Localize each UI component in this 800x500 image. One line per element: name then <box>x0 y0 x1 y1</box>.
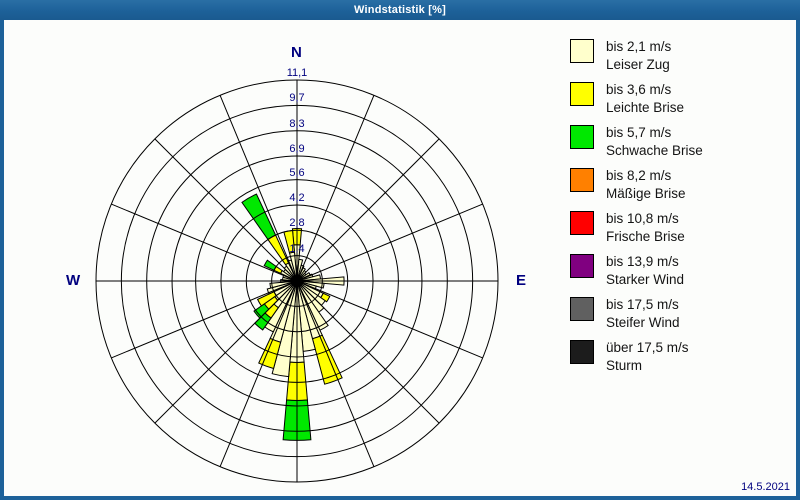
legend-label: bis 2,1 m/sLeiser Zug <box>606 38 671 74</box>
window-titlebar: Windstatistik [%] <box>0 0 800 20</box>
compass-label-north: N <box>291 44 302 61</box>
legend-item[interactable]: bis 8,2 m/sMäßige Brise <box>570 167 796 203</box>
radial-tick-label: 8,3 <box>283 118 311 130</box>
window-title: Windstatistik [%] <box>354 4 446 16</box>
radial-tick-label: 4,2 <box>283 192 311 204</box>
date-stamp: 14.5.2021 <box>741 481 790 493</box>
legend-speed: bis 5,7 m/s <box>606 124 703 142</box>
wind-rose-segment <box>312 335 342 384</box>
legend-label: bis 13,9 m/sStarker Wind <box>606 253 684 289</box>
grid-spoke <box>111 204 297 281</box>
legend-label: bis 3,6 m/sLeichte Brise <box>606 81 684 117</box>
radial-tick-label: 6,9 <box>283 143 311 155</box>
compass-label-east: E <box>516 272 526 289</box>
radial-tick-label: 9,7 <box>283 92 311 104</box>
legend-swatch <box>570 39 594 63</box>
legend-speed: bis 17,5 m/s <box>606 296 680 314</box>
legend-name: Steifer Wind <box>606 314 680 332</box>
legend-name: Sturm <box>606 357 689 375</box>
windstatistik-window: Windstatistik [%] N E S W 1,42,84,25,66,… <box>0 0 800 500</box>
grid-spoke <box>297 204 483 281</box>
legend-name: Starker Wind <box>606 271 684 289</box>
radial-tick-label: 1,4 <box>283 243 311 255</box>
wind-rose-chart: N E S W 1,42,84,25,66,98,39,711,1 <box>4 20 564 496</box>
legend-name: Mäßige Brise <box>606 185 686 203</box>
wind-rose-sectors <box>242 194 344 440</box>
legend-speed: bis 2,1 m/s <box>606 38 671 56</box>
legend-label: bis 5,7 m/sSchwache Brise <box>606 124 703 160</box>
legend-item[interactable]: bis 3,6 m/sLeichte Brise <box>570 81 796 117</box>
legend-item[interactable]: bis 13,9 m/sStarker Wind <box>570 253 796 289</box>
radial-tick-label: 2,8 <box>283 217 311 229</box>
legend-swatch <box>570 254 594 278</box>
radial-tick-label: 5,6 <box>283 167 311 179</box>
legend-item[interactable]: über 17,5 m/sSturm <box>570 339 796 375</box>
legend-label: bis 17,5 m/sSteifer Wind <box>606 296 680 332</box>
legend-swatch <box>570 82 594 106</box>
radial-tick-label: 11,1 <box>283 67 311 79</box>
legend-swatch <box>570 168 594 192</box>
legend-swatch <box>570 125 594 149</box>
legend-name: Schwache Brise <box>606 142 703 160</box>
window-client-area: N E S W 1,42,84,25,66,98,39,711,1 bis 2,… <box>4 20 796 496</box>
legend-label: bis 8,2 m/sMäßige Brise <box>606 167 686 203</box>
legend-swatch <box>570 297 594 321</box>
legend-swatch <box>570 340 594 364</box>
legend-item[interactable]: bis 10,8 m/sFrische Brise <box>570 210 796 246</box>
legend-name: Leichte Brise <box>606 99 684 117</box>
legend-name: Frische Brise <box>606 228 685 246</box>
legend-name: Leiser Zug <box>606 56 671 74</box>
grid-spoke <box>155 139 297 281</box>
wind-rose-grid <box>96 80 498 482</box>
legend-item[interactable]: bis 5,7 m/sSchwache Brise <box>570 124 796 160</box>
legend-speed: bis 13,9 m/s <box>606 253 684 271</box>
legend-swatch <box>570 211 594 235</box>
legend-speed: bis 3,6 m/s <box>606 81 684 99</box>
compass-label-west: W <box>66 272 80 289</box>
legend-speed: über 17,5 m/s <box>606 339 689 357</box>
legend-speed: bis 10,8 m/s <box>606 210 685 228</box>
grid-spoke <box>297 139 439 281</box>
legend-item[interactable]: bis 2,1 m/sLeiser Zug <box>570 38 796 74</box>
legend: bis 2,1 m/sLeiser Zugbis 3,6 m/sLeichte … <box>570 38 796 382</box>
legend-item[interactable]: bis 17,5 m/sSteifer Wind <box>570 296 796 332</box>
legend-speed: bis 8,2 m/s <box>606 167 686 185</box>
legend-label: über 17,5 m/sSturm <box>606 339 689 375</box>
legend-label: bis 10,8 m/sFrische Brise <box>606 210 685 246</box>
